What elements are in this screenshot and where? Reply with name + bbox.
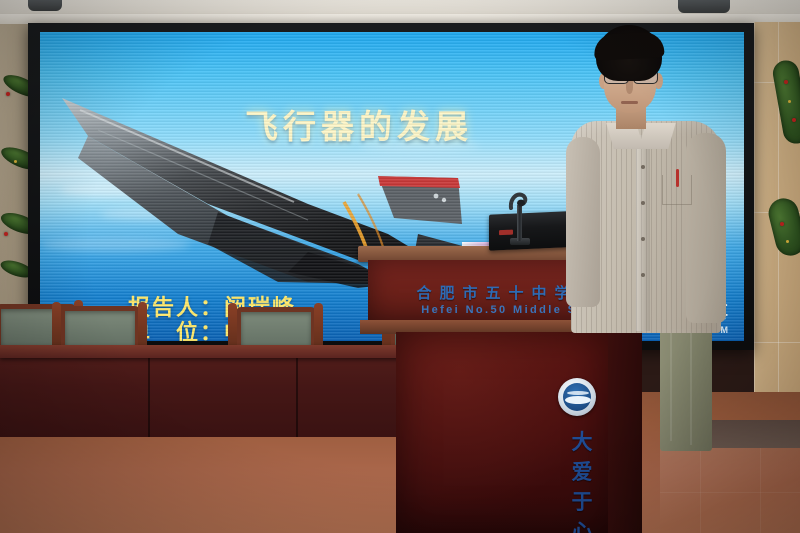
- presenter: [566, 25, 726, 425]
- pen-icon: [676, 169, 679, 187]
- gooseneck-microphone-icon: [508, 192, 530, 210]
- presenter-left-arm: [566, 137, 600, 307]
- motto-char: 大: [568, 428, 596, 458]
- laptop-logo-icon: [499, 230, 513, 236]
- podium-motto: 大 爱 于 心: [568, 428, 596, 533]
- presenter-trousers: [660, 321, 712, 451]
- motto-char: 爱: [568, 458, 596, 488]
- ceiling-speaker-icon: [28, 0, 62, 11]
- microphone-stem: [517, 205, 522, 241]
- presenter-right-arm: [686, 133, 726, 323]
- motto-char: 于: [568, 488, 596, 518]
- presenter-hair-fringe: [593, 31, 664, 61]
- slide-title: 飞行器的发展: [245, 100, 473, 148]
- lecture-hall-photo: 飞行器的发展 报告人：阚瑞峰 单 位：中科院合 之事 OM 合肥市五十中学东校 …: [0, 0, 800, 533]
- ceiling-speaker-icon: [678, 0, 730, 13]
- mouth: [621, 101, 638, 104]
- motto-char: 心: [568, 518, 596, 533]
